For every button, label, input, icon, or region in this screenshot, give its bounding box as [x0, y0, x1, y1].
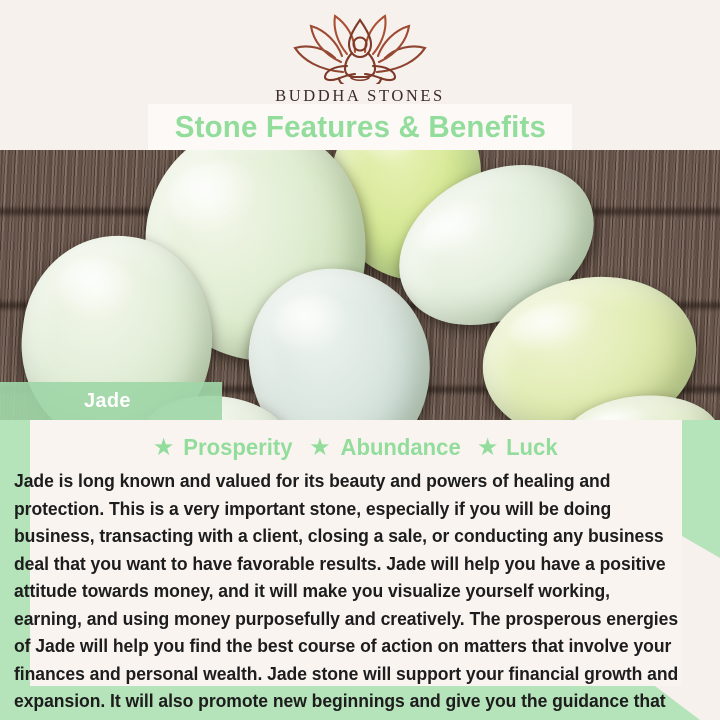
attribute-item: ★ Abundance	[309, 434, 463, 461]
title-banner: Stone Features & Benefits	[148, 104, 572, 150]
content-panel: ★ Prosperity ★ Abundance ★ Luck Jade is …	[30, 420, 682, 686]
infographic-page: BUDDHA STONES Stone Features & Benefits …	[0, 0, 720, 720]
brand-logo: BUDDHA STONES	[0, 14, 720, 106]
star-icon: ★	[309, 436, 331, 460]
description-text: Jade is long known and valued for its be…	[14, 468, 680, 720]
attribute-item: ★ Luck	[477, 434, 559, 461]
stone-photo	[0, 150, 720, 420]
star-icon: ★	[153, 436, 175, 460]
brand-name: BUDDHA STONES	[0, 86, 720, 106]
attribute-item: ★ Prosperity	[153, 434, 295, 461]
stone-name-band: Jade	[0, 382, 222, 420]
decorative-green-right-taper	[682, 536, 720, 558]
attribute-label: Abundance	[340, 434, 460, 461]
star-icon: ★	[477, 436, 499, 460]
page-title: Stone Features & Benefits	[174, 109, 545, 145]
lotus-meditation-icon	[285, 14, 435, 84]
attribute-label: Prosperity	[184, 434, 293, 461]
stone-name-label: Jade	[84, 390, 131, 413]
attribute-label: Luck	[506, 434, 558, 461]
attributes-row: ★ Prosperity ★ Abundance ★ Luck	[30, 434, 682, 461]
